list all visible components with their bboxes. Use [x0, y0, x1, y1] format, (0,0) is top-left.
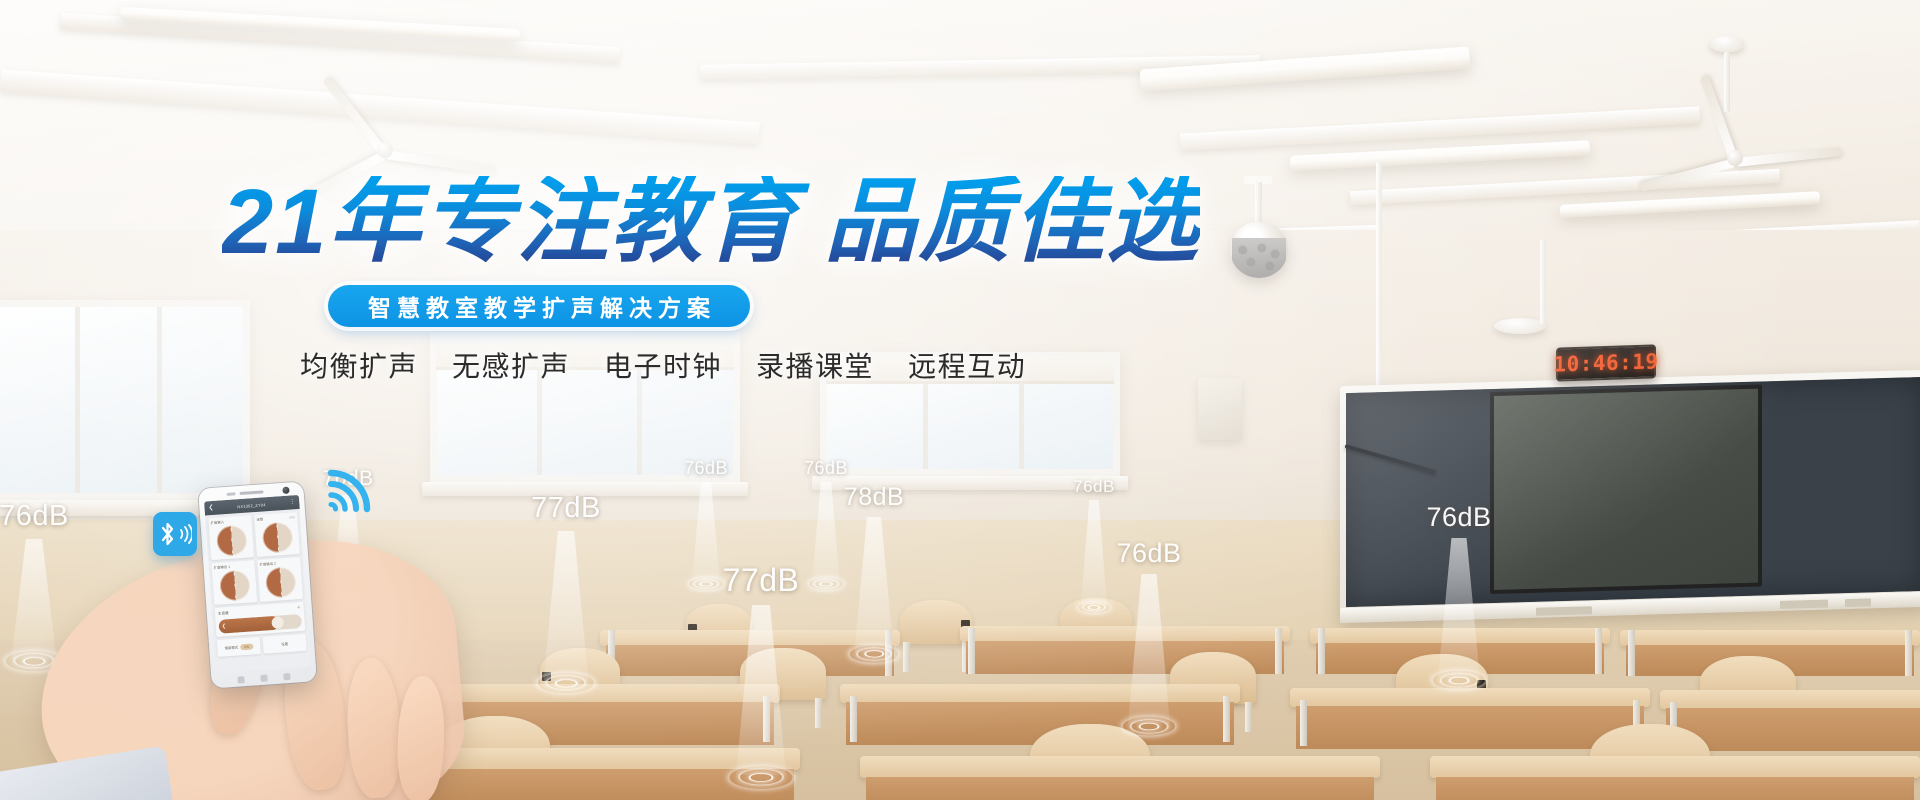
sound-ripple-ring: [1431, 670, 1487, 690]
feature-item-1: 均衡扩声: [300, 345, 418, 385]
nav-back-icon[interactable]: [237, 676, 244, 683]
master-volume-label: 主音量: [218, 611, 229, 617]
db-value-label: 78dB: [844, 483, 904, 512]
volume-knob[interactable]: [215, 525, 247, 557]
chevron-left-icon[interactable]: ❮: [208, 505, 213, 511]
db-value-label: 77dB: [723, 562, 800, 599]
interactive-display-panel: [1490, 384, 1762, 594]
clock-time: 10:46:19: [1553, 349, 1658, 376]
zone-card[interactable]: 扩音输出 2: [257, 557, 303, 602]
tray-control-strip: [1536, 606, 1592, 616]
slider-thumb[interactable]: [271, 616, 284, 629]
db-value-label: 77dB: [531, 492, 601, 525]
app-button[interactable]: 情景模式ON: [217, 637, 261, 657]
headline-part-2: 品质佳选: [824, 171, 1200, 273]
projector-ceiling-mount: [1494, 318, 1546, 334]
headline-part-1: 21年专注教育: [222, 171, 798, 273]
zone-name: 话筒: [256, 516, 263, 521]
sound-ripple-ring: [807, 577, 845, 591]
chevron-left-icon: ❮: [222, 623, 227, 629]
app-button[interactable]: 设置: [263, 634, 307, 654]
phone-screen[interactable]: ❮ NX1302_ZY04 ⋮ 扩音输入话筒MIC扩音输出 1扩音输出 2 主音…: [204, 495, 311, 673]
zone-card[interactable]: 扩音输入: [208, 515, 254, 560]
master-volume-card[interactable]: 主音量 + ❮: [215, 602, 306, 637]
app-button-row: 情景模式ON设置: [217, 634, 307, 657]
more-vertical-icon[interactable]: ⋮: [289, 499, 295, 505]
db-value-label: 76dB: [1426, 502, 1491, 533]
nav-home-icon[interactable]: [260, 675, 267, 682]
app-body: 扩音输入话筒MIC扩音输出 1扩音输出 2 主音量 + ❮ 情景模式ON设置: [205, 509, 311, 673]
sound-ripple-ring: [728, 765, 795, 789]
sound-ripple-ring: [687, 577, 725, 591]
feature-list: 均衡扩声无感扩声电子时钟录播课堂远程互动: [300, 345, 1026, 385]
tray-button-group: [1780, 600, 1828, 609]
ceiling-fan-right: [1620, 118, 1850, 198]
front-camera-icon: [282, 487, 289, 494]
app-button-label: 情景模式: [224, 645, 238, 651]
wall-control-panel: [1198, 378, 1242, 440]
sound-ripple-ring: [1077, 601, 1112, 614]
app-button-label: 设置: [281, 641, 288, 646]
tray-indicator: [1845, 598, 1871, 607]
master-volume-slider[interactable]: ❮: [218, 614, 302, 634]
app-button-chip: ON: [240, 643, 253, 650]
zone-badge: MIC: [289, 515, 295, 519]
phone-speaker-grill: [227, 492, 236, 496]
feature-item-3: 电子时钟: [604, 345, 722, 385]
desk: [1430, 756, 1920, 800]
plus-icon[interactable]: +: [297, 605, 301, 611]
db-value-label: 76dB: [804, 458, 848, 479]
bluetooth-icon: [159, 521, 177, 547]
volume-knob[interactable]: [264, 566, 296, 598]
digital-wall-clock: 10:46:19: [1556, 344, 1656, 381]
volume-knob[interactable]: [218, 570, 250, 602]
zone-name: 扩音输入: [210, 519, 224, 525]
slider-fill: [218, 616, 279, 634]
signal-waves-icon: [178, 524, 192, 544]
desk: [860, 756, 1380, 800]
zone-card[interactable]: 扩音输出 1: [211, 560, 257, 605]
zone-card[interactable]: 话筒MIC: [254, 512, 300, 557]
speaker-stem: [1255, 182, 1262, 226]
zone-name: 扩音输出 1: [213, 564, 230, 570]
app-title: NX1302_ZY04: [216, 500, 286, 510]
nav-recents-icon[interactable]: [283, 673, 290, 680]
volume-knob[interactable]: [261, 521, 293, 553]
feature-item-2: 无感扩声: [452, 345, 570, 385]
blackboard: [1340, 370, 1920, 621]
db-value-label: 76dB: [1116, 538, 1181, 569]
feature-item-4: 录播课堂: [756, 345, 874, 385]
sound-ripple-ring: [1121, 716, 1177, 736]
ceiling-speaker: [1230, 222, 1288, 278]
sound-ripple-ring: [536, 672, 596, 694]
db-value-label: 76dB: [1073, 477, 1115, 497]
phone-earpiece: [239, 490, 263, 495]
zone-name: 扩音输出 2: [259, 561, 276, 567]
smoke-detector-icon: [1710, 36, 1744, 52]
db-value-label: 76dB: [0, 500, 69, 533]
solution-pill-label: 智慧教室教学扩声解决方案: [362, 289, 716, 323]
window-left: [0, 300, 250, 500]
projector-drop-pole-right: [1724, 52, 1730, 112]
zone-card-grid: 扩音输入话筒MIC扩音输出 1扩音输出 2: [208, 512, 303, 605]
smartphone[interactable]: ❮ NX1302_ZY04 ⋮ 扩音输入话筒MIC扩音输出 1扩音输出 2 主音…: [198, 482, 317, 689]
page-title: 21年专注教育品质佳选: [222, 176, 1200, 268]
sound-ripple-ring: [848, 645, 900, 664]
classroom-hero-banner: 10:46:19: [0, 0, 1920, 800]
bluetooth-badge: [153, 512, 197, 556]
db-value-label: 76dB: [684, 458, 728, 479]
wifi-signal-icon: [322, 462, 378, 518]
feature-item-5: 远程互动: [908, 345, 1026, 385]
solution-pill-badge: 智慧教室教学扩声解决方案: [328, 285, 750, 327]
projector-drop-pole-2: [1540, 240, 1546, 324]
